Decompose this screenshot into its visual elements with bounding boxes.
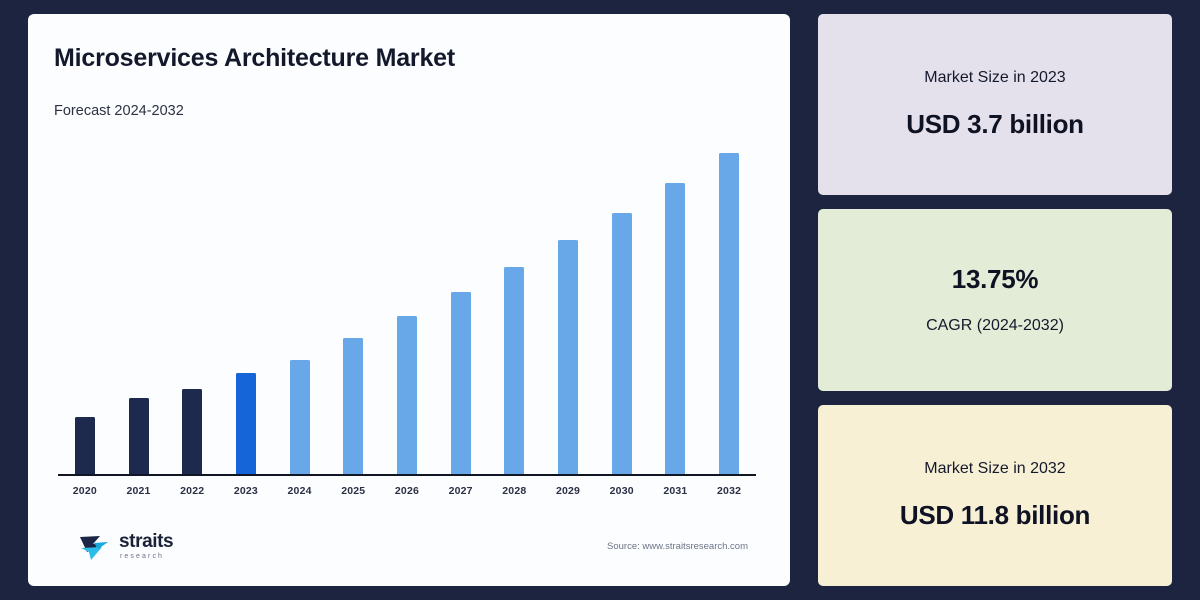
bar-slot [649, 137, 703, 474]
chart-plot-area: 2020202120222023202420252026202720282029… [54, 137, 764, 520]
stat-card-3: Market Size in 2032USD 11.8 billion [818, 405, 1172, 586]
infographic-root: Microservices Architecture Market Foreca… [0, 0, 1200, 600]
bar-slot [58, 137, 112, 474]
bar-slot [434, 137, 488, 474]
bar-2026 [397, 316, 417, 473]
bar-chart [58, 137, 756, 476]
bar-slot [273, 137, 327, 474]
stat-card-1: Market Size in 2023USD 3.7 billion [818, 14, 1172, 195]
x-tick-2020: 2020 [58, 485, 112, 497]
bar-2030 [612, 213, 632, 474]
source-attribution: Source: www.straitsresearch.com [607, 541, 762, 552]
bar-2025 [343, 338, 363, 474]
x-tick-2024: 2024 [273, 485, 327, 497]
bar-slot [326, 137, 380, 474]
bar-series [58, 137, 756, 474]
x-tick-2025: 2025 [326, 485, 380, 497]
stat-card-2: 13.75%CAGR (2024-2032) [818, 209, 1172, 390]
bar-slot [541, 137, 595, 474]
x-tick-2027: 2027 [434, 485, 488, 497]
logo-wordmark: straits research [119, 532, 173, 560]
bar-2028 [504, 267, 524, 473]
bar-slot [380, 137, 434, 474]
bar-slot [702, 137, 756, 474]
stat-value: 13.75% [952, 264, 1038, 295]
bar-slot [488, 137, 542, 474]
x-axis-tick-labels: 2020202120222023202420252026202720282029… [58, 478, 756, 504]
bar-slot [165, 137, 219, 474]
logo-name: straits [119, 532, 173, 551]
bar-2023 [236, 373, 256, 473]
x-tick-2022: 2022 [165, 485, 219, 497]
x-tick-2029: 2029 [541, 485, 595, 497]
bar-2031 [665, 183, 685, 473]
bird-arrow-logo-icon [78, 531, 112, 561]
bar-2024 [290, 360, 310, 474]
x-tick-2026: 2026 [380, 485, 434, 497]
bar-2022 [182, 389, 202, 473]
bar-slot [595, 137, 649, 474]
bar-2020 [75, 417, 95, 474]
stat-label: Market Size in 2023 [924, 69, 1065, 87]
stat-cards: Market Size in 2023USD 3.7 billion13.75%… [818, 14, 1172, 586]
stat-value: USD 3.7 billion [906, 109, 1084, 140]
bar-2029 [558, 240, 578, 473]
x-tick-2030: 2030 [595, 485, 649, 497]
page-title: Microservices Architecture Market [54, 44, 764, 73]
panel-footer: straits research Source: www.straitsrese… [54, 520, 764, 572]
x-tick-2028: 2028 [488, 485, 542, 497]
straits-research-logo: straits research [78, 531, 173, 561]
x-tick-2032: 2032 [702, 485, 756, 497]
bar-slot [219, 137, 273, 474]
bar-2021 [129, 398, 149, 474]
stat-value: USD 11.8 billion [900, 500, 1090, 531]
forecast-subtitle: Forecast 2024-2032 [54, 103, 764, 119]
x-tick-2021: 2021 [112, 485, 166, 497]
chart-panel: Microservices Architecture Market Foreca… [28, 14, 790, 586]
bar-slot [112, 137, 166, 474]
stat-label: CAGR (2024-2032) [926, 317, 1064, 335]
bar-2027 [451, 292, 471, 474]
logo-subtitle: research [120, 553, 173, 560]
x-axis-line [58, 474, 756, 477]
x-tick-2023: 2023 [219, 485, 273, 497]
stat-label: Market Size in 2032 [924, 460, 1065, 478]
x-tick-2031: 2031 [649, 485, 703, 497]
bar-2032 [719, 153, 739, 473]
